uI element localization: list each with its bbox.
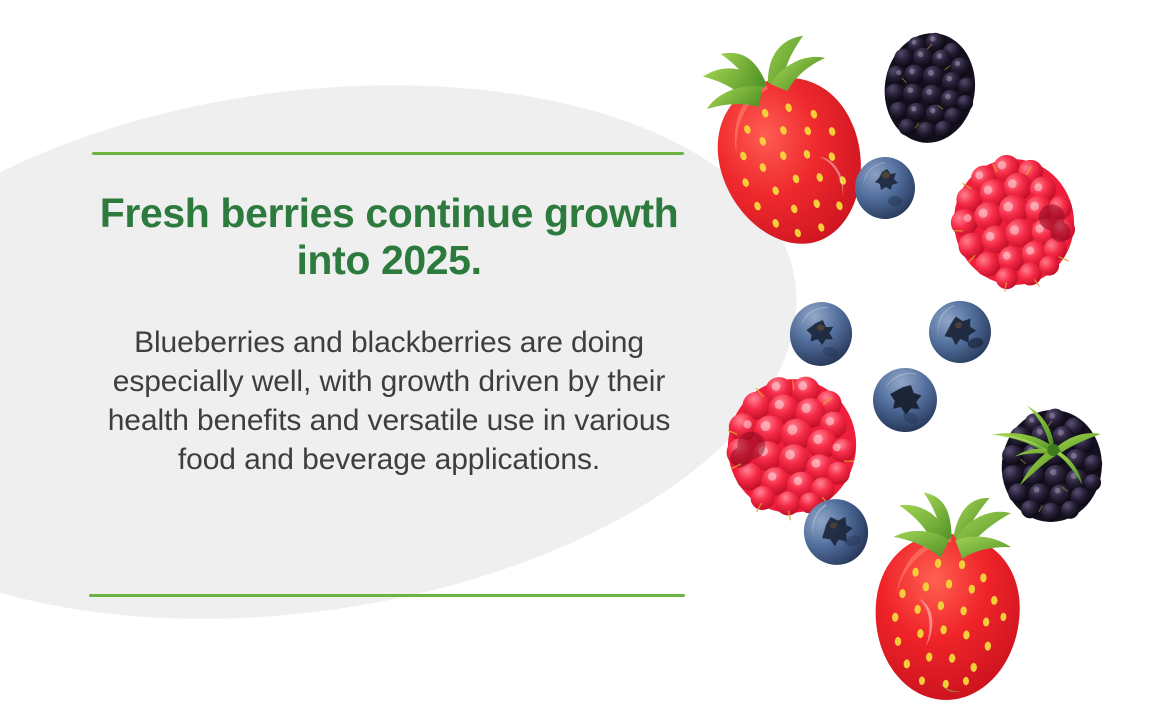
blueberry-icon xyxy=(789,301,853,367)
blackberry-icon xyxy=(880,28,980,146)
raspberry-icon xyxy=(948,152,1080,292)
top-divider xyxy=(92,152,684,155)
blueberry-icon xyxy=(854,156,916,220)
blueberry-icon xyxy=(872,367,938,433)
bottom-divider xyxy=(89,594,685,597)
strawberry-icon xyxy=(872,504,1024,704)
headline: Fresh berries continue growth into 2025. xyxy=(92,170,686,283)
text-column: Fresh berries continue growth into 2025.… xyxy=(92,170,686,479)
body-paragraph: Blueberries and blackberries are doing e… xyxy=(92,283,686,479)
blueberry-icon xyxy=(803,498,869,566)
blackberry-with-stem-icon xyxy=(958,400,1108,530)
blueberry-icon xyxy=(928,300,992,364)
promo-card: Fresh berries continue growth into 2025.… xyxy=(0,0,1152,726)
